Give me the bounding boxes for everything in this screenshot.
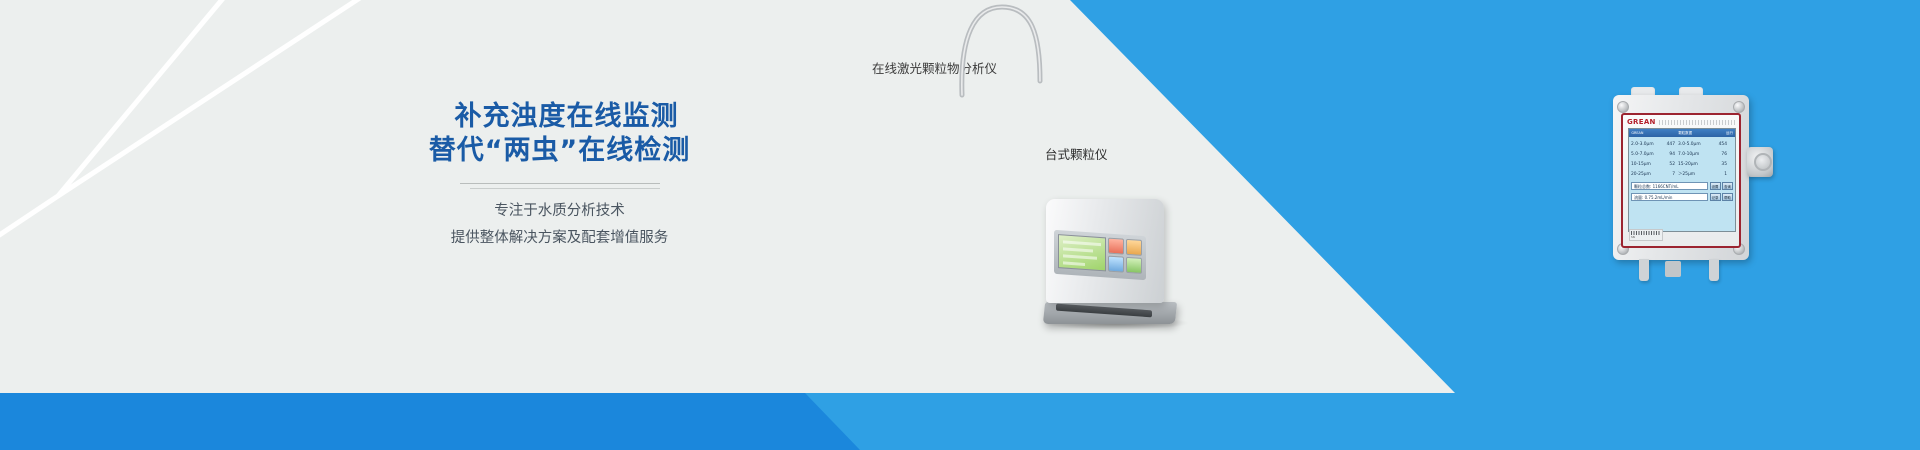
cell-count-a: 52	[1660, 162, 1678, 167]
keypad-key-4[interactable]	[1126, 257, 1142, 274]
keypad-key-2[interactable]	[1126, 239, 1142, 256]
display-line	[1063, 247, 1093, 252]
table-row: 20-25μm 7 ＞25μm 1	[1631, 169, 1733, 179]
benchtop-control-panel	[1054, 230, 1146, 280]
analyzer-display[interactable]: GREAN 颗粒数据 运行 2.0-3.0μm 447 3.0-5.0μm 45…	[1628, 128, 1736, 232]
cell-range-b: ＞25μm	[1678, 171, 1709, 177]
cell-range-a: 2.0-3.0μm	[1631, 142, 1660, 147]
display-button-0[interactable]: 设置	[1710, 182, 1721, 190]
display-button-1[interactable]: 查询	[1722, 182, 1733, 190]
cell-count-a: 447	[1660, 142, 1678, 147]
benchtop-keypad[interactable]	[1108, 238, 1142, 274]
display-title-center: 颗粒数据	[1678, 131, 1692, 136]
analyzer-screw-tr	[1733, 101, 1745, 113]
headline-line-2: 替代“两虫”在线检测	[412, 134, 707, 168]
cell-count-a: 7	[1660, 172, 1678, 177]
connection-cable	[940, 0, 1060, 115]
analyzer-mount-foot-left	[1639, 259, 1649, 281]
title-divider	[460, 183, 660, 184]
analyzer-screw-tl	[1617, 101, 1629, 113]
cell-range-a: 10-15μm	[1631, 162, 1660, 167]
analyzer-brand-text: GREAN	[1627, 118, 1656, 126]
analyzer-bottom-port	[1665, 261, 1681, 277]
barcode-caption: SN	[1630, 235, 1662, 239]
subtitle-line-2: 提供整体解决方案及配套增值服务	[412, 225, 707, 252]
cell-count-b: 76	[1709, 152, 1727, 157]
display-title-left: GREAN	[1631, 131, 1643, 135]
display-line	[1063, 254, 1097, 259]
cell-range-b: 3.0-5.0μm	[1678, 142, 1709, 147]
analyzer-flange-ring	[1754, 153, 1772, 171]
display-titlebar: GREAN 颗粒数据 运行	[1629, 129, 1735, 137]
analyzer-front-panel: GREAN GREAN 颗粒数据 运行 2.0-3.0μm 447 3.0-5.…	[1621, 113, 1741, 248]
table-row: 5.0-7.0μm 94 7.0-10μm 76	[1631, 149, 1733, 159]
cell-range-a: 20-25μm	[1631, 172, 1660, 177]
benchtop-display[interactable]	[1058, 234, 1106, 271]
display-button-2[interactable]: 记录	[1710, 193, 1721, 201]
banner-stage: 补充浊度在线监测 替代“两虫”在线检测 专注于水质分析技术 提供整体解决方案及配…	[0, 0, 1920, 450]
display-title-right: 运行	[1726, 131, 1733, 136]
display-control-row: 流量: 0.75.2mL/min 记录 帮助	[1631, 192, 1733, 201]
headline-panel: 补充浊度在线监测 替代“两虫”在线检测 专注于水质分析技术 提供整体解决方案及配…	[412, 88, 707, 260]
display-field-flow: 流量: 0.75.2mL/min	[1631, 193, 1708, 201]
keypad-key-1[interactable]	[1108, 238, 1124, 255]
table-row: 10-15μm 52 15-20μm 35	[1631, 159, 1733, 169]
cell-count-b: 1	[1709, 172, 1727, 177]
table-row: 2.0-3.0μm 447 3.0-5.0μm 454	[1631, 139, 1733, 149]
keypad-key-3[interactable]	[1108, 256, 1124, 273]
product-photo-group: GREAN GREAN 颗粒数据 运行 2.0-3.0μm 447 3.0-5.…	[790, 0, 1290, 450]
display-line	[1063, 261, 1085, 266]
display-line	[1063, 240, 1101, 246]
cell-count-b: 35	[1709, 162, 1727, 167]
display-button-3[interactable]: 帮助	[1722, 193, 1733, 201]
analyzer-barcode-label: SN	[1629, 229, 1663, 241]
subtitle-group: 专注于水质分析技术 提供整体解决方案及配套增值服务	[412, 198, 707, 252]
page-title: 补充浊度在线监测 替代“两虫”在线检测	[412, 100, 707, 168]
display-control-row: 颗粒总数: 1166CNT/mL 设置 查询	[1631, 181, 1733, 190]
analyzer-device: GREAN GREAN 颗粒数据 运行 2.0-3.0μm 447 3.0-5.…	[1605, 85, 1757, 270]
cell-count-a: 94	[1660, 152, 1678, 157]
display-field-total: 颗粒总数: 1166CNT/mL	[1631, 182, 1708, 190]
subtitle-line-1: 专注于水质分析技术	[412, 198, 707, 225]
display-data-table: 2.0-3.0μm 447 3.0-5.0μm 454 5.0-7.0μm 94…	[1629, 137, 1735, 179]
analyzer-vent-bars	[1659, 120, 1737, 125]
cell-range-b: 15-20μm	[1678, 162, 1709, 167]
cell-count-b: 454	[1709, 142, 1727, 147]
display-controls: 颗粒总数: 1166CNT/mL 设置 查询 流量: 0.75.2mL/min …	[1629, 179, 1735, 205]
analyzer-mount-foot-right	[1709, 259, 1719, 281]
cell-range-b: 7.0-10μm	[1678, 152, 1709, 157]
cell-range-a: 5.0-7.0μm	[1631, 152, 1660, 157]
headline-line-1: 补充浊度在线监测	[412, 100, 707, 134]
benchtop-device	[1040, 195, 1180, 330]
